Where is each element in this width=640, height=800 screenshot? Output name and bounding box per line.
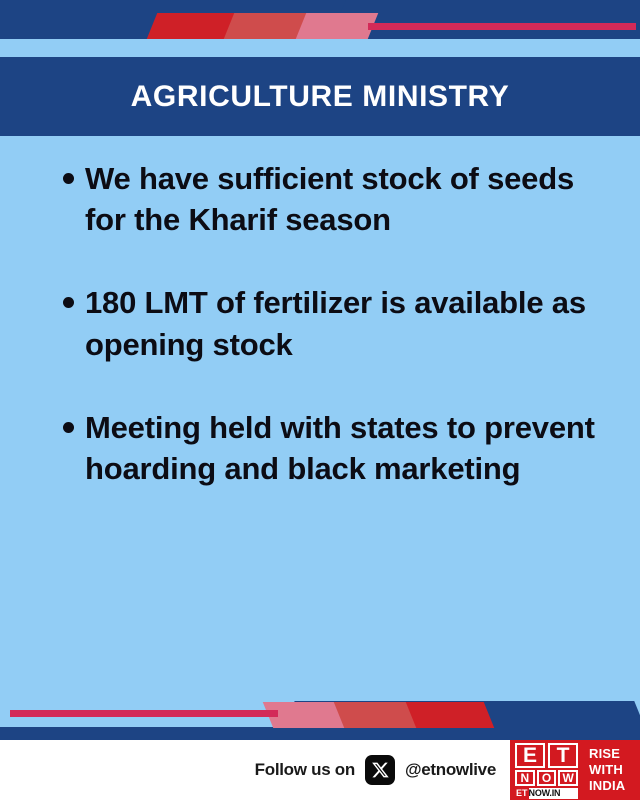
x-twitter-icon[interactable]: [365, 755, 395, 785]
bullet-text: We have sufficient stock of seeds for th…: [85, 161, 574, 237]
bullet-text: Meeting held with states to prevent hoar…: [85, 410, 595, 486]
logo-url-rest: NOW.IN: [529, 788, 561, 799]
bullet-dot-icon: [63, 422, 74, 433]
logo-url-prefix: ET: [515, 788, 529, 799]
logo-letter-n: N: [515, 770, 535, 786]
bottom-parallelogram-mid: [334, 702, 418, 728]
footer-bar: Follow us on @etnowlive E T N O W: [0, 740, 640, 800]
bullet-dot-icon: [63, 297, 74, 308]
title-bar: AGRICULTURE MINISTRY: [0, 57, 640, 136]
page-title: AGRICULTURE MINISTRY: [131, 80, 510, 114]
bullet-text: 180 LMT of fertilizer is available as op…: [85, 285, 586, 361]
bullet-dot-icon: [63, 173, 74, 184]
top-parallelogram-pink: [296, 13, 379, 39]
follow-us-label: Follow us on: [255, 760, 355, 780]
logo-letter-o: O: [537, 770, 557, 786]
bullet-list: We have sufficient stock of seeds for th…: [30, 158, 610, 489]
top-crimson-rule: [368, 23, 636, 30]
etnow-et-row: E T: [515, 743, 578, 768]
bottom-parallelogram-red: [406, 702, 495, 728]
etnow-tagline: RISE WITH INDIA: [582, 740, 640, 800]
list-item: 180 LMT of fertilizer is available as op…: [30, 282, 610, 364]
top-parallelogram-mid: [224, 13, 308, 39]
etnow-url-row: ET NOW.IN: [515, 788, 578, 799]
top-band-navy-right: [330, 0, 640, 39]
tagline-line-2: WITH: [589, 762, 640, 778]
top-band-navy-fill: [0, 0, 160, 39]
logo-letter-e: E: [515, 743, 545, 768]
list-item: Meeting held with states to prevent hoar…: [30, 407, 610, 489]
tagline-line-1: RISE: [589, 746, 640, 762]
bottom-crimson-rule: [10, 710, 278, 717]
top-parallelogram-red: [147, 13, 236, 39]
list-item: We have sufficient stock of seeds for th…: [30, 158, 610, 240]
etnow-logo-mark: E T N O W ET NOW.IN: [510, 740, 582, 800]
etnow-now-row: N O W: [515, 770, 578, 786]
logo-letter-w: W: [558, 770, 578, 786]
bottom-band-navy-fill: [0, 727, 550, 740]
bullet-content-area: We have sufficient stock of seeds for th…: [0, 136, 640, 690]
tagline-line-3: INDIA: [589, 778, 640, 794]
top-decorative-band: [0, 0, 640, 57]
news-graphic-card: AGRICULTURE MINISTRY We have sufficient …: [0, 0, 640, 800]
etnow-logo: E T N O W ET NOW.IN RISE WITH INDIA: [510, 740, 640, 800]
logo-letter-t: T: [548, 743, 578, 768]
follow-us-group[interactable]: Follow us on @etnowlive: [255, 755, 496, 785]
social-handle[interactable]: @etnowlive: [405, 760, 496, 780]
bottom-decorative-band: [0, 690, 640, 740]
